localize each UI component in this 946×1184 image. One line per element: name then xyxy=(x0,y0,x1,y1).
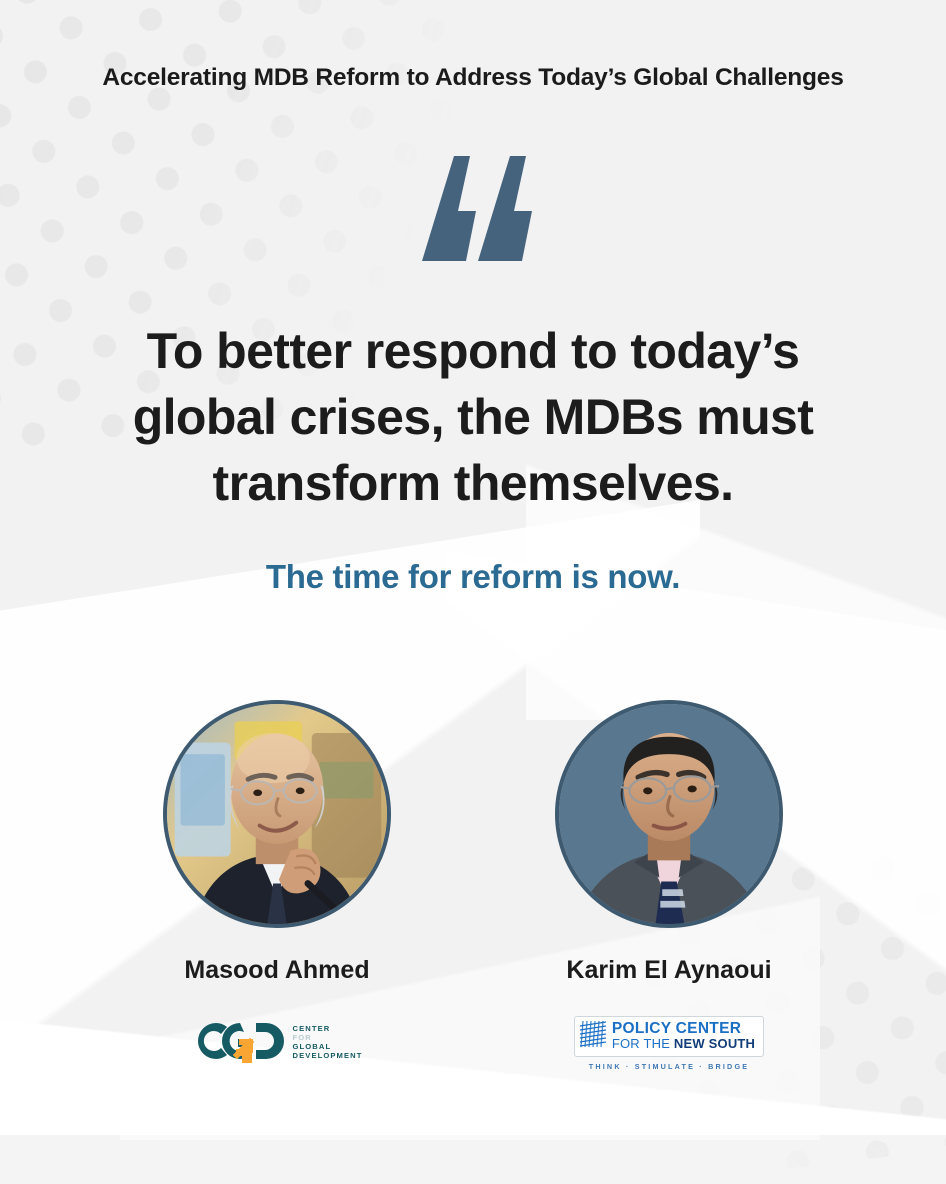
quote-text: To better respond to today’s global cris… xyxy=(73,318,873,516)
quote-subtitle: The time for reform is now. xyxy=(0,558,946,596)
organization-logo-cgd: CENTER FOR GLOBAL DEVELOPMENT xyxy=(192,1013,363,1073)
speakers-row: Masood Ahmed CENTER FOR xyxy=(0,700,946,1073)
speaker-name: Masood Ahmed xyxy=(184,956,369,985)
crosshatch-mesh-icon xyxy=(580,1021,606,1052)
organization-logo-policy-center: POLICY CENTER FOR THE NEW SOUTH THINK · … xyxy=(574,1013,764,1073)
policy-center-tagline: THINK · STIMULATE · BRIDGE xyxy=(589,1062,749,1071)
speaker-card: Masood Ahmed CENTER FOR xyxy=(157,700,397,1073)
cgd-logomark-icon xyxy=(192,1019,284,1068)
cgd-word-4: DEVELOPMENT xyxy=(293,1052,363,1061)
speaker-name: Karim El Aynaoui xyxy=(566,956,771,985)
quote-line-3: transform themselves. xyxy=(73,450,873,516)
double-quote-icon xyxy=(0,156,946,276)
policy-center-line-2: FOR THE NEW SOUTH xyxy=(612,1037,755,1051)
quote-line-2: global crises, the MDBs must xyxy=(73,384,873,450)
avatar xyxy=(163,700,391,928)
quote-line-1: To better respond to today’s xyxy=(73,318,873,384)
policy-center-line-2-bold: NEW SOUTH xyxy=(674,1036,755,1051)
speaker-card: Karim El Aynaoui P xyxy=(549,700,789,1073)
page-title: Accelerating MDB Reform to Address Today… xyxy=(0,64,946,92)
cgd-wordmark: CENTER FOR GLOBAL DEVELOPMENT xyxy=(293,1025,363,1061)
policy-center-line-2-pre: FOR THE xyxy=(612,1036,674,1051)
policy-center-line-1: POLICY CENTER xyxy=(612,1021,755,1037)
avatar xyxy=(555,700,783,928)
